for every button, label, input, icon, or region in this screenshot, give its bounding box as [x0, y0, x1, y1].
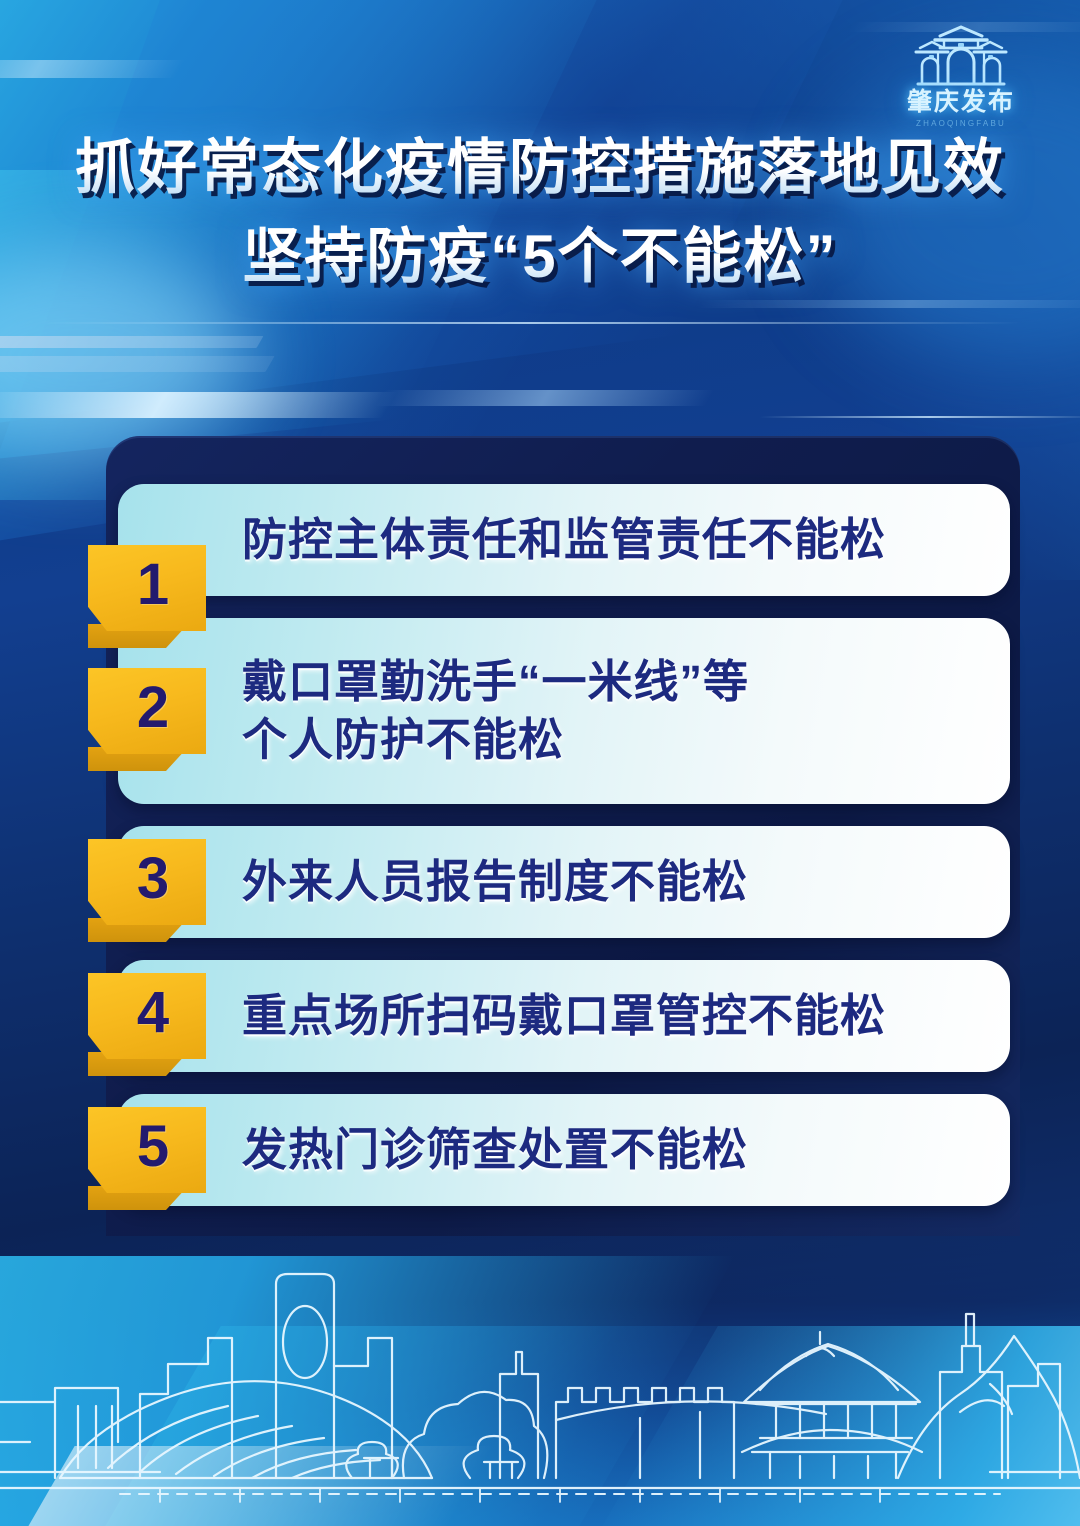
measure-card-2[interactable]: 戴口罩勤洗手“一米线”等 个人防护不能松	[118, 618, 1010, 804]
measure-text-2: 戴口罩勤洗手“一米线”等 个人防护不能松	[242, 653, 749, 768]
ribbon-face: 3	[88, 839, 206, 925]
measure-line: 发热门诊筛查处置不能松	[242, 1121, 748, 1179]
measure-line: 戴口罩勤洗手“一米线”等	[242, 653, 749, 711]
page-title: 抓好常态化疫情防控措施落地见效 坚持防疫“5个不能松”	[0, 130, 1080, 296]
ribbon-face: 5	[88, 1107, 206, 1193]
measure-number: 1	[137, 556, 169, 614]
measure-number-tab-2: 2	[88, 668, 206, 754]
measure-number-tab-4: 4	[88, 973, 206, 1059]
ribbon-face: 1	[88, 545, 206, 631]
archway-gate-icon	[902, 22, 1020, 88]
measure-number-tab-3: 3	[88, 839, 206, 925]
poster-root: 肇庆发布 ZHAOQINGFABU 抓好常态化疫情防控措施落地见效 坚持防疫“5…	[0, 0, 1080, 1526]
measure-line: 重点场所扫码戴口罩管控不能松	[242, 987, 886, 1045]
measure-text-5: 发热门诊筛查处置不能松	[242, 1121, 748, 1179]
measure-number: 5	[137, 1118, 169, 1176]
measure-line: 个人防护不能松	[242, 711, 749, 769]
measure-text-4: 重点场所扫码戴口罩管控不能松	[242, 987, 886, 1045]
bg-bar-5	[698, 300, 1080, 308]
bg-hairline-2	[759, 416, 1080, 418]
measure-card-1[interactable]: 防控主体责任和监管责任不能松	[118, 484, 1010, 596]
measure-card-4[interactable]: 重点场所扫码戴口罩管控不能松	[118, 960, 1010, 1072]
measure-number: 4	[137, 984, 169, 1042]
ribbon-face: 2	[88, 668, 206, 754]
measure-text-3: 外来人员报告制度不能松	[242, 853, 748, 911]
measures-list: 防控主体责任和监管责任不能松 1 戴口罩勤洗手“一米线”等 个人防护不能松	[0, 436, 1080, 1206]
list-item: 发热门诊筛查处置不能松 5	[0, 1094, 1080, 1206]
measure-number: 3	[137, 850, 169, 908]
bg-bar-3	[0, 392, 398, 418]
measure-line: 外来人员报告制度不能松	[242, 853, 748, 911]
list-item: 防控主体责任和监管责任不能松 1	[0, 484, 1080, 596]
skyline-linework-icon	[0, 1206, 1080, 1526]
measure-line: 防控主体责任和监管责任不能松	[242, 511, 886, 569]
bg-bar-7	[0, 60, 185, 78]
city-skyline-illustration	[0, 1206, 1080, 1526]
measure-number-tab-1: 1	[88, 545, 206, 631]
brand-name: 肇庆发布	[886, 90, 1036, 115]
list-item: 重点场所扫码戴口罩管控不能松 4	[0, 960, 1080, 1072]
measure-card-5[interactable]: 发热门诊筛查处置不能松	[118, 1094, 1010, 1206]
ribbon-face: 4	[88, 973, 206, 1059]
bg-bar-4	[375, 390, 714, 406]
bg-bar-2	[0, 356, 275, 372]
measure-card-3[interactable]: 外来人员报告制度不能松	[118, 826, 1010, 938]
title-line-1: 抓好常态化疫情防控措施落地见效	[0, 130, 1080, 207]
brand-logo: 肇庆发布 ZHAOQINGFABU	[886, 22, 1036, 128]
bg-hairline-1	[39, 322, 1020, 324]
measure-number: 2	[137, 679, 169, 737]
measure-text-1: 防控主体责任和监管责任不能松	[242, 511, 886, 569]
bg-bar-1	[0, 336, 263, 348]
title-line-2: 坚持防疫“5个不能松”	[0, 219, 1080, 296]
measure-number-tab-5: 5	[88, 1107, 206, 1193]
list-item: 外来人员报告制度不能松 3	[0, 826, 1080, 938]
brand-pinyin: ZHAOQINGFABU	[886, 119, 1036, 128]
